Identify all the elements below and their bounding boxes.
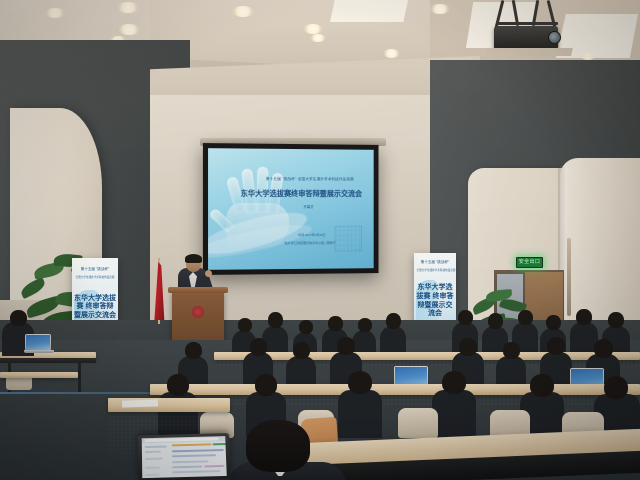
person-head <box>488 313 503 329</box>
person-head <box>547 337 565 355</box>
laptop-screen <box>26 335 50 350</box>
person-head <box>348 371 372 394</box>
projected-slide: 第十五届 "挑战杯" 全国大学生课外学术科技作品竞赛 东华大学选拔赛终审答辩暨展… <box>208 148 374 270</box>
podium-top-surface <box>168 287 228 293</box>
person-head <box>255 374 277 396</box>
lecture-desk-front <box>0 358 96 363</box>
person-head <box>442 371 466 394</box>
exit-sign-label: 安全出口 <box>519 260 541 265</box>
banner-title: 东华大学选拔赛 终审答辩暨展示交流会 <box>74 295 116 321</box>
person-head <box>268 312 283 328</box>
speaker-hair <box>185 254 202 263</box>
banner-line-sub: 全国大学生课外学术科技作品竞赛 <box>75 275 115 279</box>
person-head <box>250 338 267 356</box>
person-head <box>518 310 533 325</box>
door-handle[interactable] <box>567 238 571 316</box>
exit-sign: 安全出口 <box>516 257 543 268</box>
slide-meta-time: 时间:2017年3月18日 <box>265 233 357 237</box>
person-head <box>185 342 202 359</box>
person-head <box>386 313 401 329</box>
university-emblem <box>192 306 204 318</box>
pull-down-projection-screen: 第十五届 "挑战杯" 全国大学生课外学术科技作品竞赛 东华大学选拔赛终审答辩暨展… <box>203 143 379 275</box>
recessed-downlight <box>117 2 139 13</box>
person-head <box>608 312 624 328</box>
person-head <box>238 318 252 332</box>
lecture-hall-photo: 安全出口 第十五届 "挑战杯" 全国大学生课外学术科技作品竞赛 东华大学选拔赛终… <box>0 0 640 480</box>
person-head <box>358 318 372 332</box>
slide-title: 东华大学选拔赛终审答辩暨展示交流会 <box>232 188 371 198</box>
seated-person <box>432 390 476 438</box>
foreground-person-head <box>246 420 310 472</box>
person-head <box>167 374 189 396</box>
lecture-chair <box>398 408 438 438</box>
recessed-downlight <box>310 34 326 42</box>
banner-line-top: 第十五届 "挑战杯" <box>417 260 454 265</box>
person-head <box>328 316 343 331</box>
person-head <box>293 342 310 359</box>
lecture-desk <box>0 372 78 378</box>
recessed-downlight <box>232 6 254 17</box>
person-head <box>546 315 561 330</box>
ceiling-access-plate <box>485 48 573 56</box>
person-head <box>503 342 520 359</box>
person-head <box>604 376 628 399</box>
skylight-panel <box>330 0 408 22</box>
person-head <box>458 310 473 325</box>
recessed-downlight <box>45 8 65 18</box>
seated-person <box>338 390 382 438</box>
recessed-downlight <box>383 49 400 58</box>
slide-line-top: 第十五届 "挑战杯" 全国大学生课外学术科技作品竞赛 <box>252 176 367 182</box>
person-head <box>337 337 355 355</box>
recessed-downlight <box>118 24 140 35</box>
laptop[interactable] <box>25 334 51 351</box>
recessed-downlight <box>303 24 323 34</box>
person-head <box>530 374 554 397</box>
desk-leg <box>78 362 81 392</box>
recessed-downlight <box>580 52 596 60</box>
banner-line-sub: 全国大学生课外学术科技作品竞赛 <box>417 268 454 272</box>
slide-subtitle: 开幕式 <box>259 204 358 209</box>
slide-meta-place: 地点:松江校区图文信息中心第二报告厅 <box>259 241 361 246</box>
recessed-downlight <box>430 4 450 14</box>
laptop-base <box>24 350 54 353</box>
projector-lens-icon <box>548 31 561 44</box>
foreground-laptop-screen <box>142 436 227 478</box>
person-head <box>594 339 613 358</box>
slide-text-block: 第十五届 "挑战杯" 全国大学生课外学术科技作品竞赛 东华大学选拔赛终审答辩暨展… <box>208 148 374 270</box>
person-head <box>299 320 313 334</box>
person-head <box>576 309 592 325</box>
paper-sheet <box>122 399 158 407</box>
banner-title: 东华大学选拔赛 终审答辩暨展示交流会 <box>416 284 455 319</box>
person-head <box>459 338 477 356</box>
person-head <box>10 310 27 326</box>
speaker-hand <box>205 270 212 277</box>
banner-line-top: 第十五届 "挑战杯" <box>75 267 115 272</box>
foreground-laptop[interactable] <box>138 433 231 480</box>
